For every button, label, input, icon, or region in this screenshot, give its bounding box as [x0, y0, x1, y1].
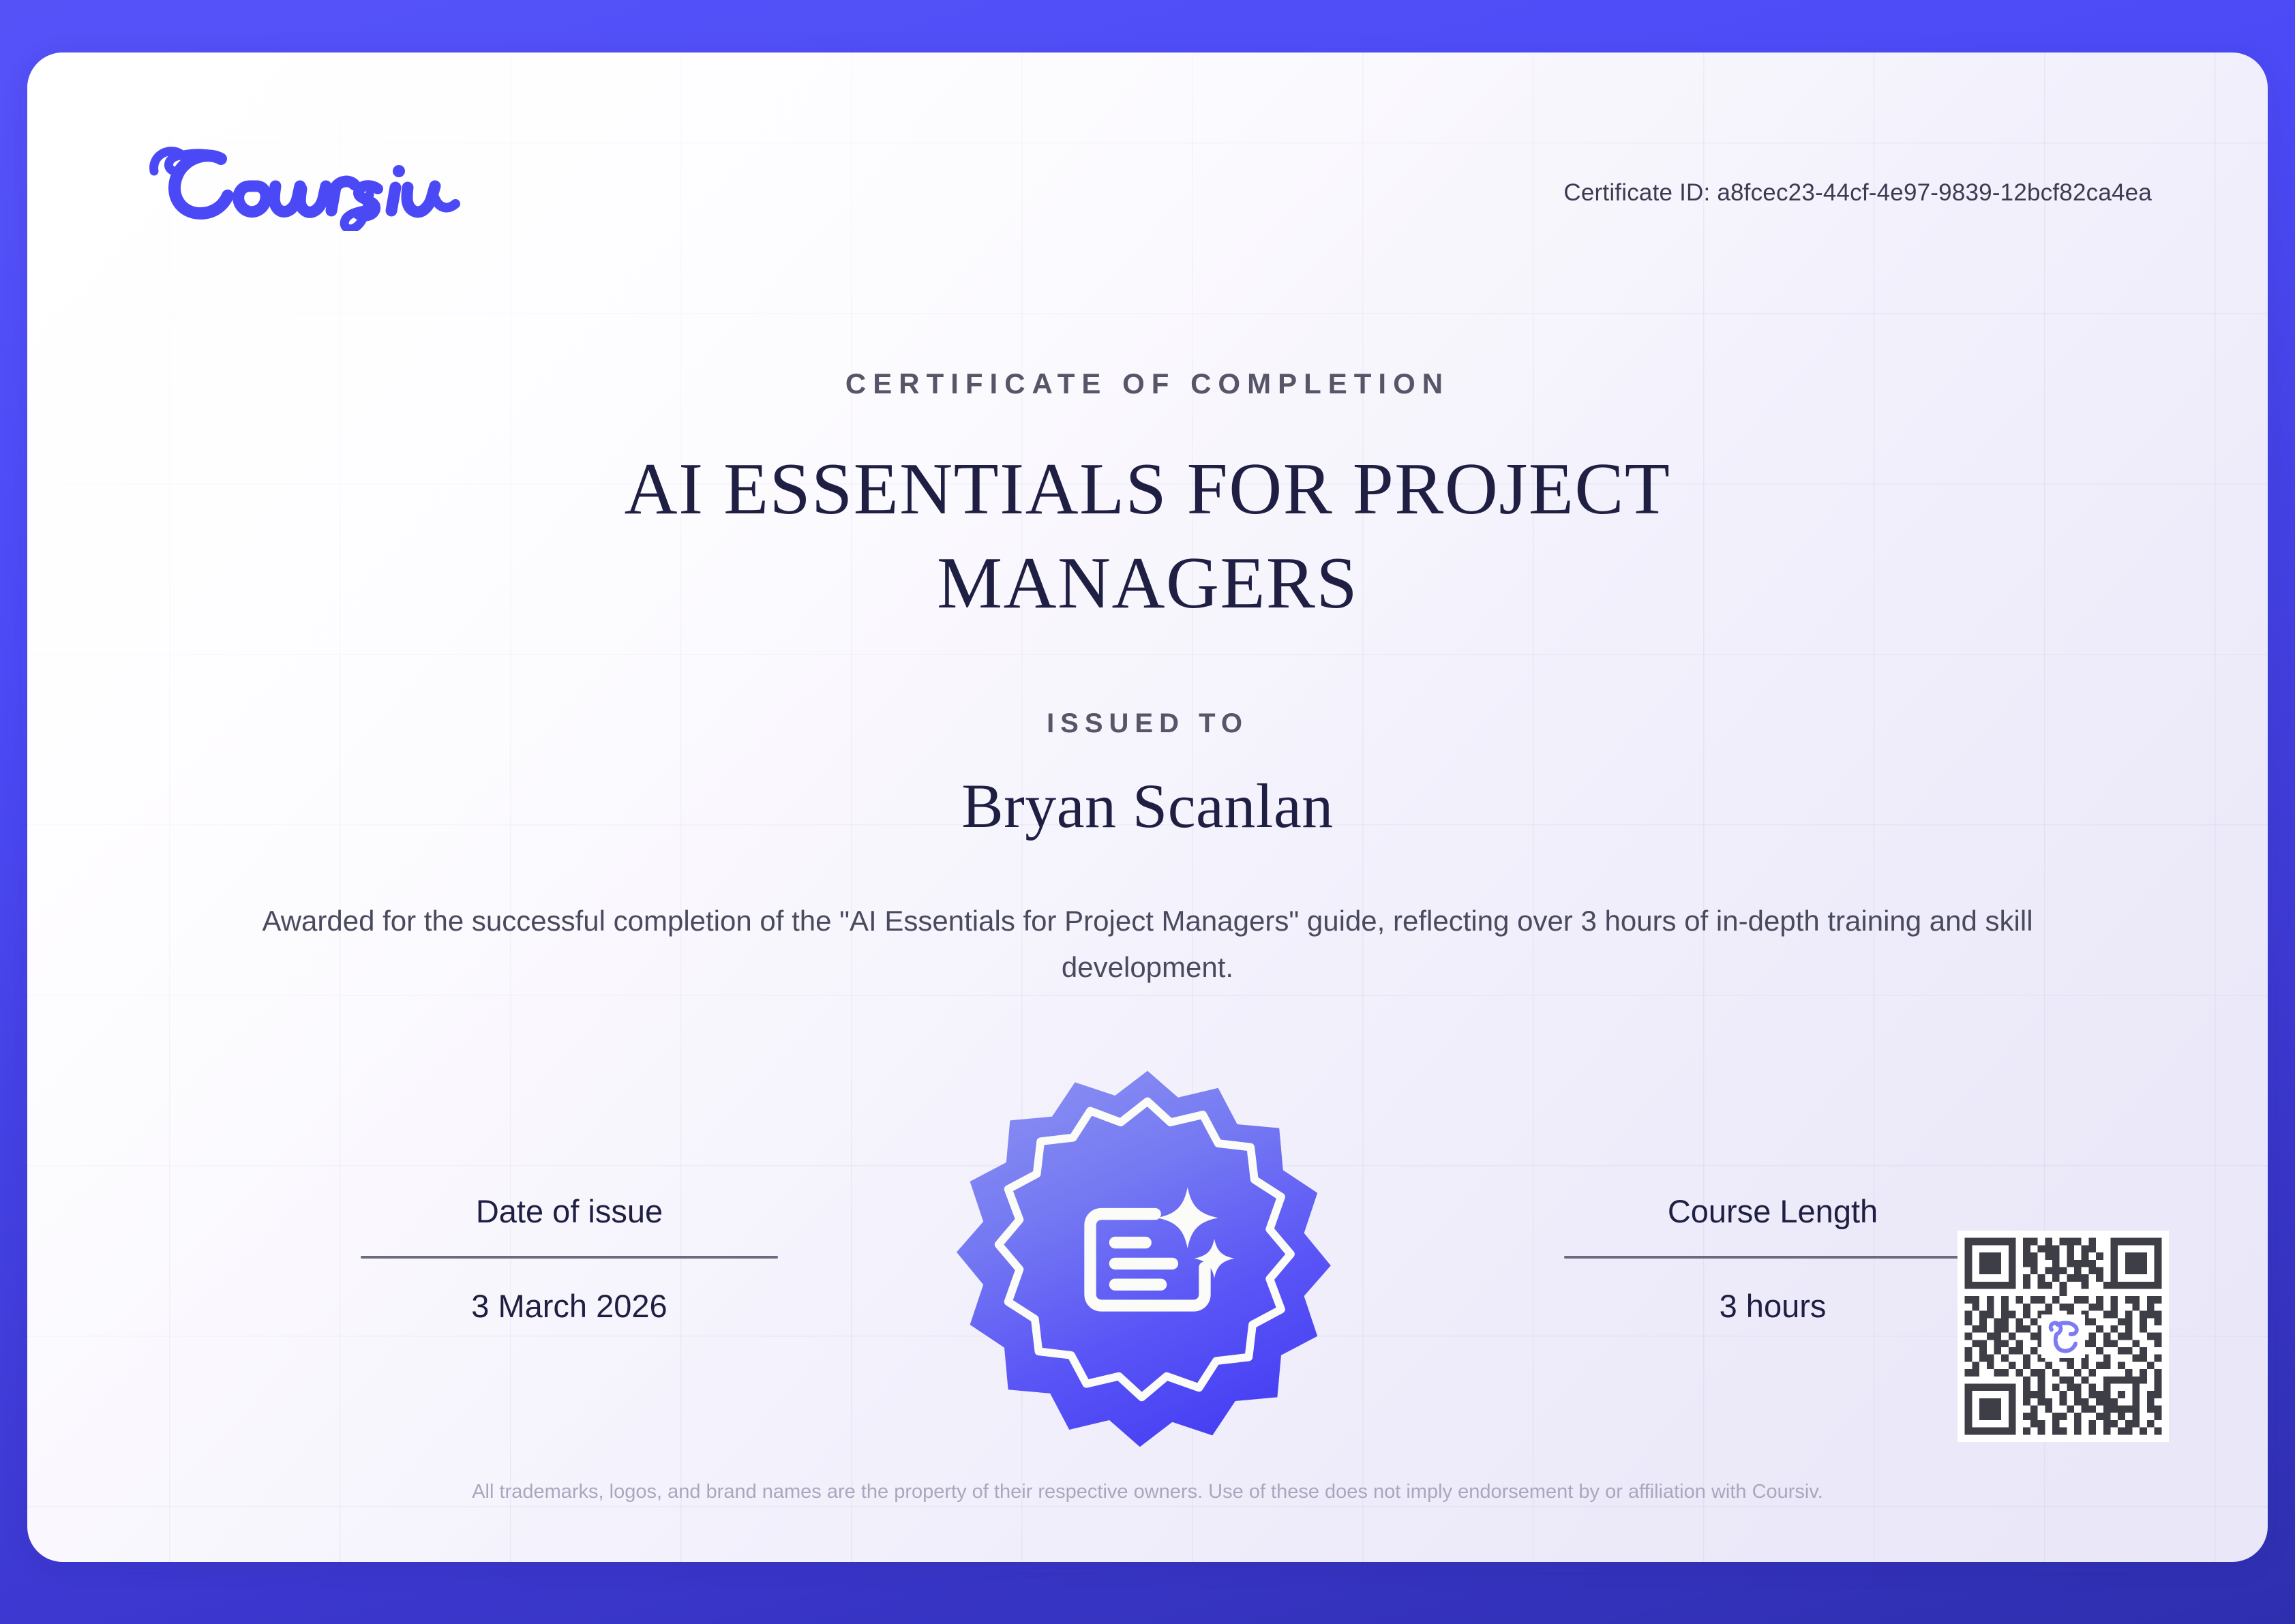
certificate-card: Certificate ID: a8fcec23-44cf-4e97-9839-… — [27, 52, 2268, 1562]
course-length-divider — [1564, 1256, 1981, 1259]
completion-seal-icon — [957, 1060, 1338, 1456]
page-title: AI ESSENTIALS FOR PROJECT MANAGERS — [449, 442, 1846, 631]
course-length-block: Course Length 3 hours — [1534, 1192, 2011, 1325]
certificate-eyebrow: CERTIFICATE OF COMPLETION — [27, 367, 2268, 400]
award-description: Awarded for the successful completion of… — [254, 898, 2041, 991]
certificate-id: Certificate ID: a8fcec23-44cf-4e97-9839-… — [1563, 179, 2152, 207]
coursiv-logo-icon — [135, 136, 490, 231]
date-divider — [361, 1256, 778, 1259]
qr-code-icon[interactable] — [1957, 1231, 2169, 1442]
course-length-label: Course Length — [1534, 1192, 2011, 1230]
issued-to-label: ISSUED TO — [27, 708, 2268, 739]
date-of-issue-block: Date of issue 3 March 2026 — [331, 1192, 808, 1325]
certificate-frame: Certificate ID: a8fcec23-44cf-4e97-9839-… — [0, 0, 2295, 1624]
footer-disclaimer: All trademarks, logos, and brand names a… — [27, 1481, 2268, 1503]
course-length-value: 3 hours — [1534, 1287, 2011, 1325]
recipient-name: Bryan Scanlan — [27, 770, 2268, 842]
date-of-issue-value: 3 March 2026 — [331, 1287, 808, 1325]
date-of-issue-label: Date of issue — [331, 1192, 808, 1230]
